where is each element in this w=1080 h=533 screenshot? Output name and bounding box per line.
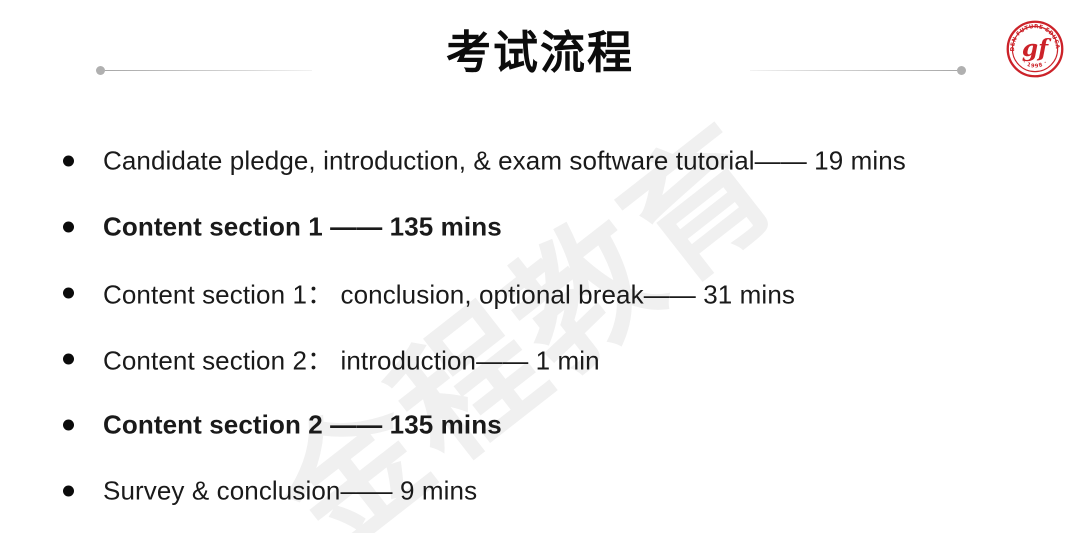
list-item-label: Content section 1： conclusion, optional … — [103, 275, 795, 312]
bullet-dot-icon — [63, 420, 74, 431]
list-item-label: Content section 2 —— 135 mins — [103, 410, 502, 441]
list-item-label: Candidate pledge, introduction, & exam s… — [103, 146, 906, 177]
list-item: Content section 2 —— 135 mins — [0, 392, 1080, 458]
bullet-dot-icon — [63, 486, 74, 497]
slide-exam-process: 金程教育 考试流程 · GOLDEN FUTURE EDUCATION · — [0, 0, 1080, 533]
svg-text:gf: gf — [1022, 35, 1052, 62]
list-item: Content section 1： conclusion, optional … — [0, 260, 1080, 326]
exam-process-list: Candidate pledge, introduction, & exam s… — [0, 128, 1080, 524]
bullet-dot-icon — [63, 288, 74, 299]
list-item: Survey & conclusion—— 9 mins — [0, 458, 1080, 524]
rule-line — [750, 70, 957, 71]
bullet-dot-icon — [63, 222, 74, 233]
decorative-rule-right — [750, 66, 966, 75]
brand-logo-icon: · GOLDEN FUTURE EDUCATION · · 1998 · gf — [1006, 20, 1064, 78]
bullet-dot-icon — [63, 156, 74, 167]
list-item-label: Content section 1 —— 135 mins — [103, 212, 502, 243]
rule-dot-icon — [957, 66, 966, 75]
list-item-label: Content section 2： introduction—— 1 min — [103, 341, 600, 378]
list-item: Candidate pledge, introduction, & exam s… — [0, 128, 1080, 194]
slide-header: 考试流程 — [0, 0, 1080, 110]
list-item: Content section 1 —— 135 mins — [0, 194, 1080, 260]
list-item-label: Survey & conclusion—— 9 mins — [103, 476, 477, 507]
list-item: Content section 2： introduction—— 1 min — [0, 326, 1080, 392]
bullet-dot-icon — [63, 354, 74, 365]
